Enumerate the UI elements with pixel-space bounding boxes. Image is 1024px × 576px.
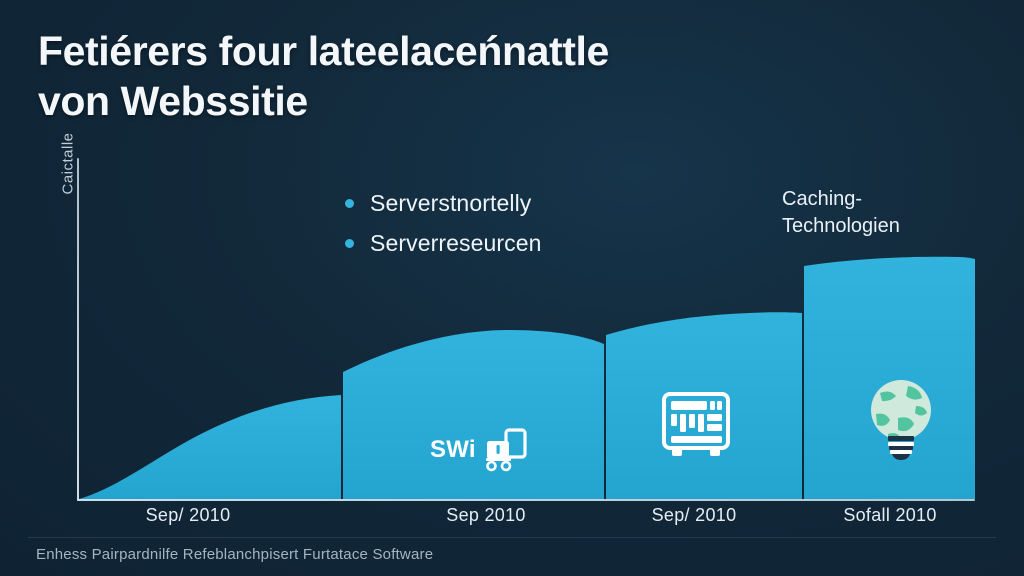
callout-line-1: Caching- (782, 186, 1002, 213)
legend-item-1[interactable]: Serverreseurcen (345, 230, 542, 257)
x-axis-line (77, 499, 975, 501)
chart-legend: Serverstnortelly Serverreseurcen (345, 190, 542, 270)
x-tick-label-1: Sep 2010 (446, 505, 525, 526)
caching-callout: Caching- Technologien (782, 186, 1002, 240)
x-tick-label-0: Sep/ 2010 (146, 505, 231, 526)
delivery-cart-icon (481, 428, 531, 472)
lightbulb-globe-group (868, 378, 934, 460)
area-segment-1 (79, 395, 341, 499)
title-line-2: von Webssitie (38, 76, 798, 126)
server-rack-group (660, 392, 732, 460)
legend-dot-icon (345, 239, 354, 248)
area-segment-2 (343, 330, 604, 499)
legend-dot-icon (345, 199, 354, 208)
callout-line-2: Technologien (782, 213, 1002, 240)
x-tick-label-2: Sep/ 2010 (652, 505, 737, 526)
page-title: Fetiérers four lateelaceńnattle von Webs… (38, 26, 798, 126)
legend-item-0[interactable]: Serverstnortelly (345, 190, 542, 217)
footer-caption: Enhess Pairpardnilfe Refeblanchpisert Fu… (36, 546, 433, 563)
x-tick-label-3: Sofall 2010 (843, 505, 936, 526)
title-line-1: Fetiérers four lateelaceńnattle (38, 26, 798, 76)
lightbulb-globe-icon (868, 378, 934, 460)
swi-label: SWi (430, 436, 476, 464)
footer-divider (28, 537, 996, 538)
delivery-cart-group: SWi (430, 428, 531, 472)
legend-label: Serverreseurcen (370, 230, 542, 257)
legend-label: Serverstnortelly (370, 190, 531, 217)
y-axis-label: Caictalle (60, 74, 77, 254)
infographic-slide: Fetiérers four lateelaceńnattle von Webs… (0, 0, 1024, 576)
server-rack-icon (660, 392, 732, 460)
